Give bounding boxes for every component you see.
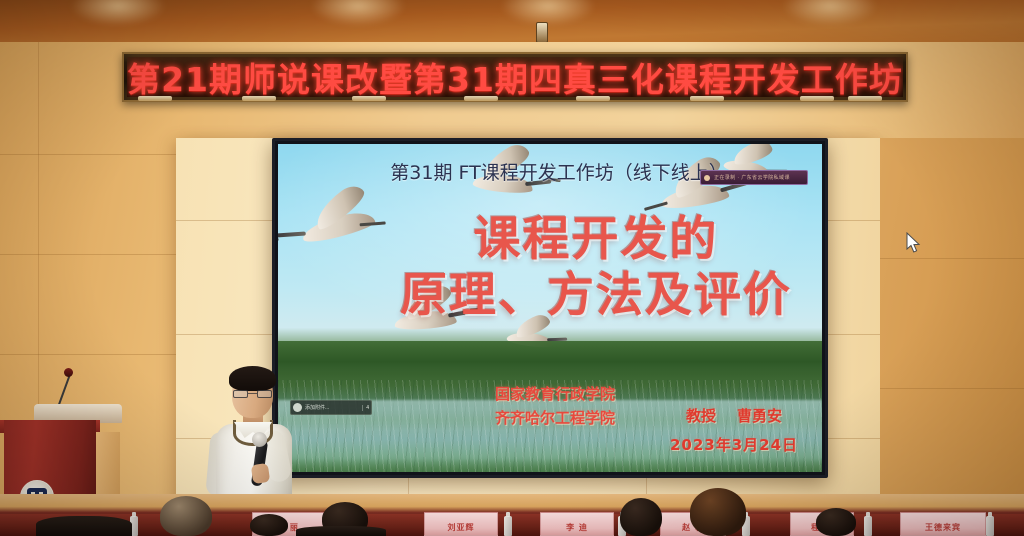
slide-date: 2023年3月24日	[646, 431, 822, 460]
list-item: 李 迪	[540, 512, 614, 536]
slide-badge-label: 正在录制 · 广东省云学院私域课	[714, 174, 790, 181]
water-bottle	[864, 516, 872, 536]
ceiling-spotlight-glow	[782, 0, 878, 26]
slide-main-title: 课程开发的 原理、方法及评价	[278, 216, 822, 320]
slide-recording-badge: 正在录制 · 广东省云学院私域课	[700, 170, 808, 185]
media-chip-label: 添加附件...	[305, 404, 359, 411]
hall-photo-stage: 第21期师说课改暨第31期四真三化课程开发工作坊	[0, 0, 1024, 536]
banner-led-face: 第21期师说课改暨第31期四真三化课程开发工作坊	[127, 57, 903, 97]
slide-org-line2: 齐齐哈尔工程学院	[460, 406, 650, 430]
list-item: 刘亚辉	[424, 512, 498, 536]
circle-avatar-icon	[704, 175, 710, 181]
water-bottle	[986, 516, 994, 536]
event-banner: 第21期师说课改暨第31期四真三化课程开发工作坊	[122, 52, 908, 102]
audience-head	[160, 496, 212, 536]
banner-title-text: 第21期师说课改暨第31期四真三化课程开发工作坊	[127, 57, 903, 97]
audience-shoulders	[36, 516, 132, 536]
audience-head	[620, 498, 662, 536]
slide-organizations: 国家教育行政学院 齐齐哈尔工程学院	[460, 382, 650, 431]
audience-head	[250, 514, 288, 536]
slide-presenter-credits: 教授 曹勇安 2023年3月24日	[646, 402, 822, 459]
presentation-slide: 第31期 FT课程开发工作坊（线下线上） 正在录制 · 广东省云学院私域课 课程…	[278, 144, 822, 472]
water-bottle	[504, 516, 512, 536]
namecard-text: 李 迪	[566, 522, 588, 533]
presenter-hair	[229, 366, 276, 391]
projection-screen[interactable]: 第31期 FT课程开发工作坊（线下线上） 正在录制 · 广东省云学院私域课 课程…	[272, 138, 828, 478]
podium-microphone-icon	[64, 368, 73, 377]
slide-title-line1: 课程开发的	[474, 212, 719, 267]
ceiling	[0, 0, 1024, 46]
list-item: 王德来宾	[900, 512, 986, 536]
slide-presenter-name: 曹勇安	[737, 407, 782, 425]
banner-light-strip	[124, 96, 906, 101]
ceiling-spotlight-glow	[310, 0, 406, 26]
audience-head	[816, 508, 856, 536]
glasses-icon	[233, 390, 272, 398]
media-chip-count: 4	[362, 405, 369, 411]
ceiling-mounted-device-icon	[536, 22, 548, 43]
namecard-text: 刘亚辉	[448, 522, 475, 533]
slide-title-line2: 原理、方法及评价	[370, 272, 822, 320]
audience-head	[690, 488, 746, 536]
mouse-pointer	[906, 232, 922, 254]
presenter-hand	[251, 463, 270, 484]
slide-presenter-title: 教授	[686, 407, 716, 425]
namecard-text: 王德来宾	[925, 522, 961, 533]
ceiling-spotlight-glow	[500, 0, 596, 26]
slide-presenter-line: 教授 曹勇安	[646, 402, 822, 431]
audience-shoulders	[296, 526, 386, 536]
slide-org-line1: 国家教育行政学院	[460, 382, 650, 406]
wall-right-panel	[880, 138, 1024, 536]
ceiling-spotlight-glow	[70, 0, 166, 26]
